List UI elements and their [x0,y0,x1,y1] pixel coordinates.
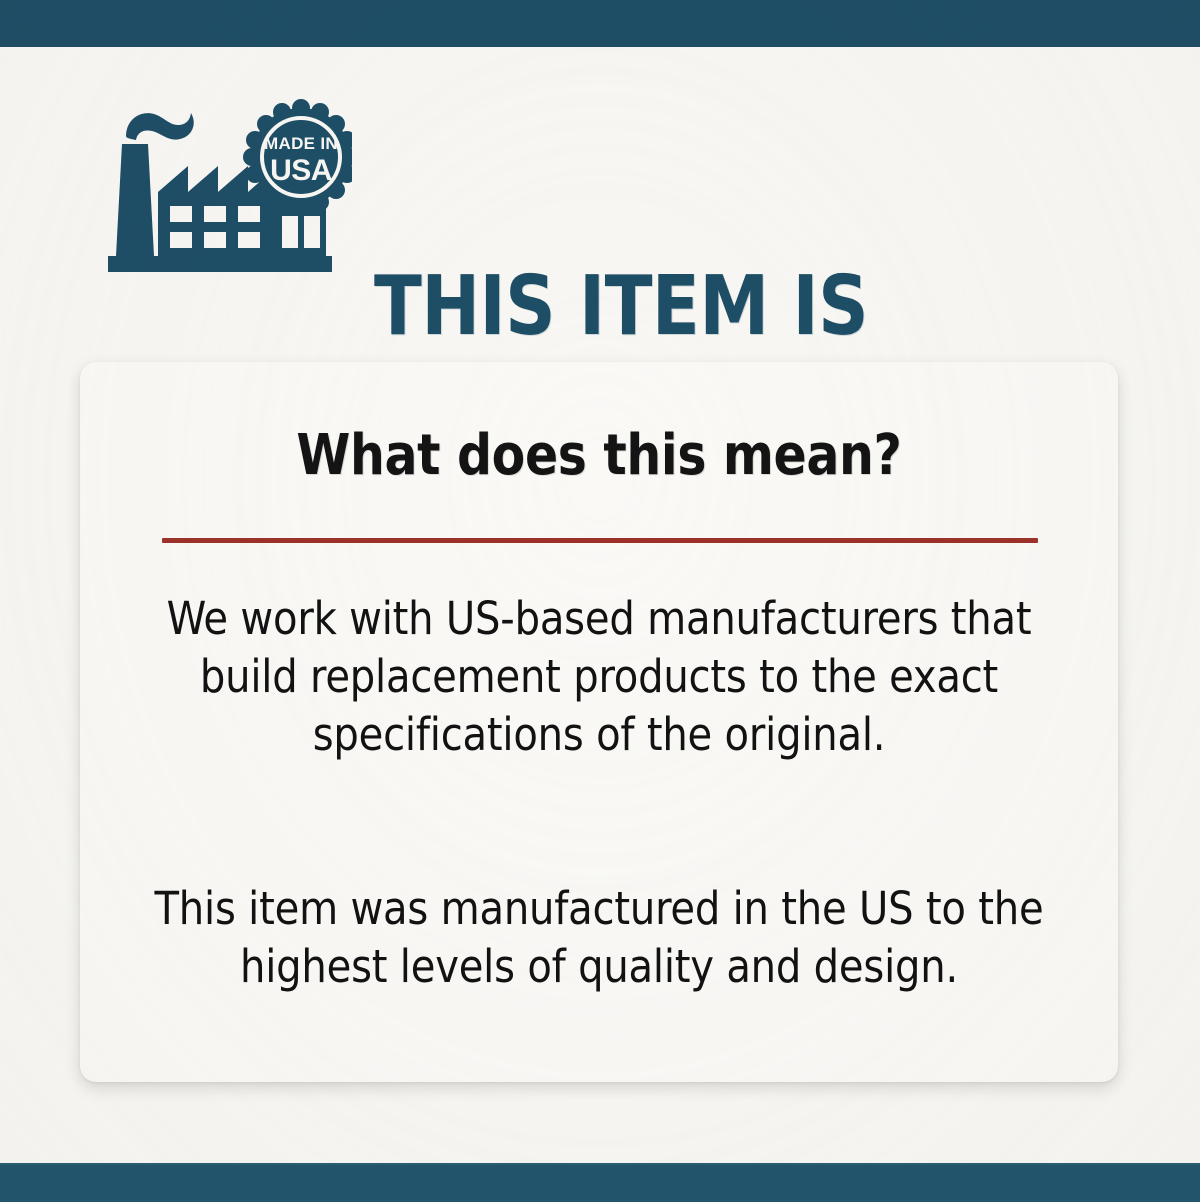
made-in-usa-logo: MADE IN USA [100,96,352,286]
card-heading: What does this mean? [96,428,1103,484]
badge-made-in-text: MADE IN [264,134,338,153]
card-paragraph-1: We work with US-based manufacturers that… [133,590,1066,764]
page-root: MADE IN USA THIS ITEM IS MADE IN THE USA… [0,0,1200,1200]
card-paragraph-2: This item was manufactured in the US to … [133,880,1066,996]
header-banner: MADE IN USA THIS ITEM IS MADE IN THE USA [100,96,1160,291]
red-divider [162,538,1038,543]
badge-usa-text: USA [270,154,332,187]
page-title-line-1: THIS ITEM IS [374,266,1071,347]
bottom-accent-bar [0,1163,1200,1202]
explanation-card: What does this mean? We work with US-bas… [80,362,1118,1082]
top-accent-bar [0,0,1200,47]
